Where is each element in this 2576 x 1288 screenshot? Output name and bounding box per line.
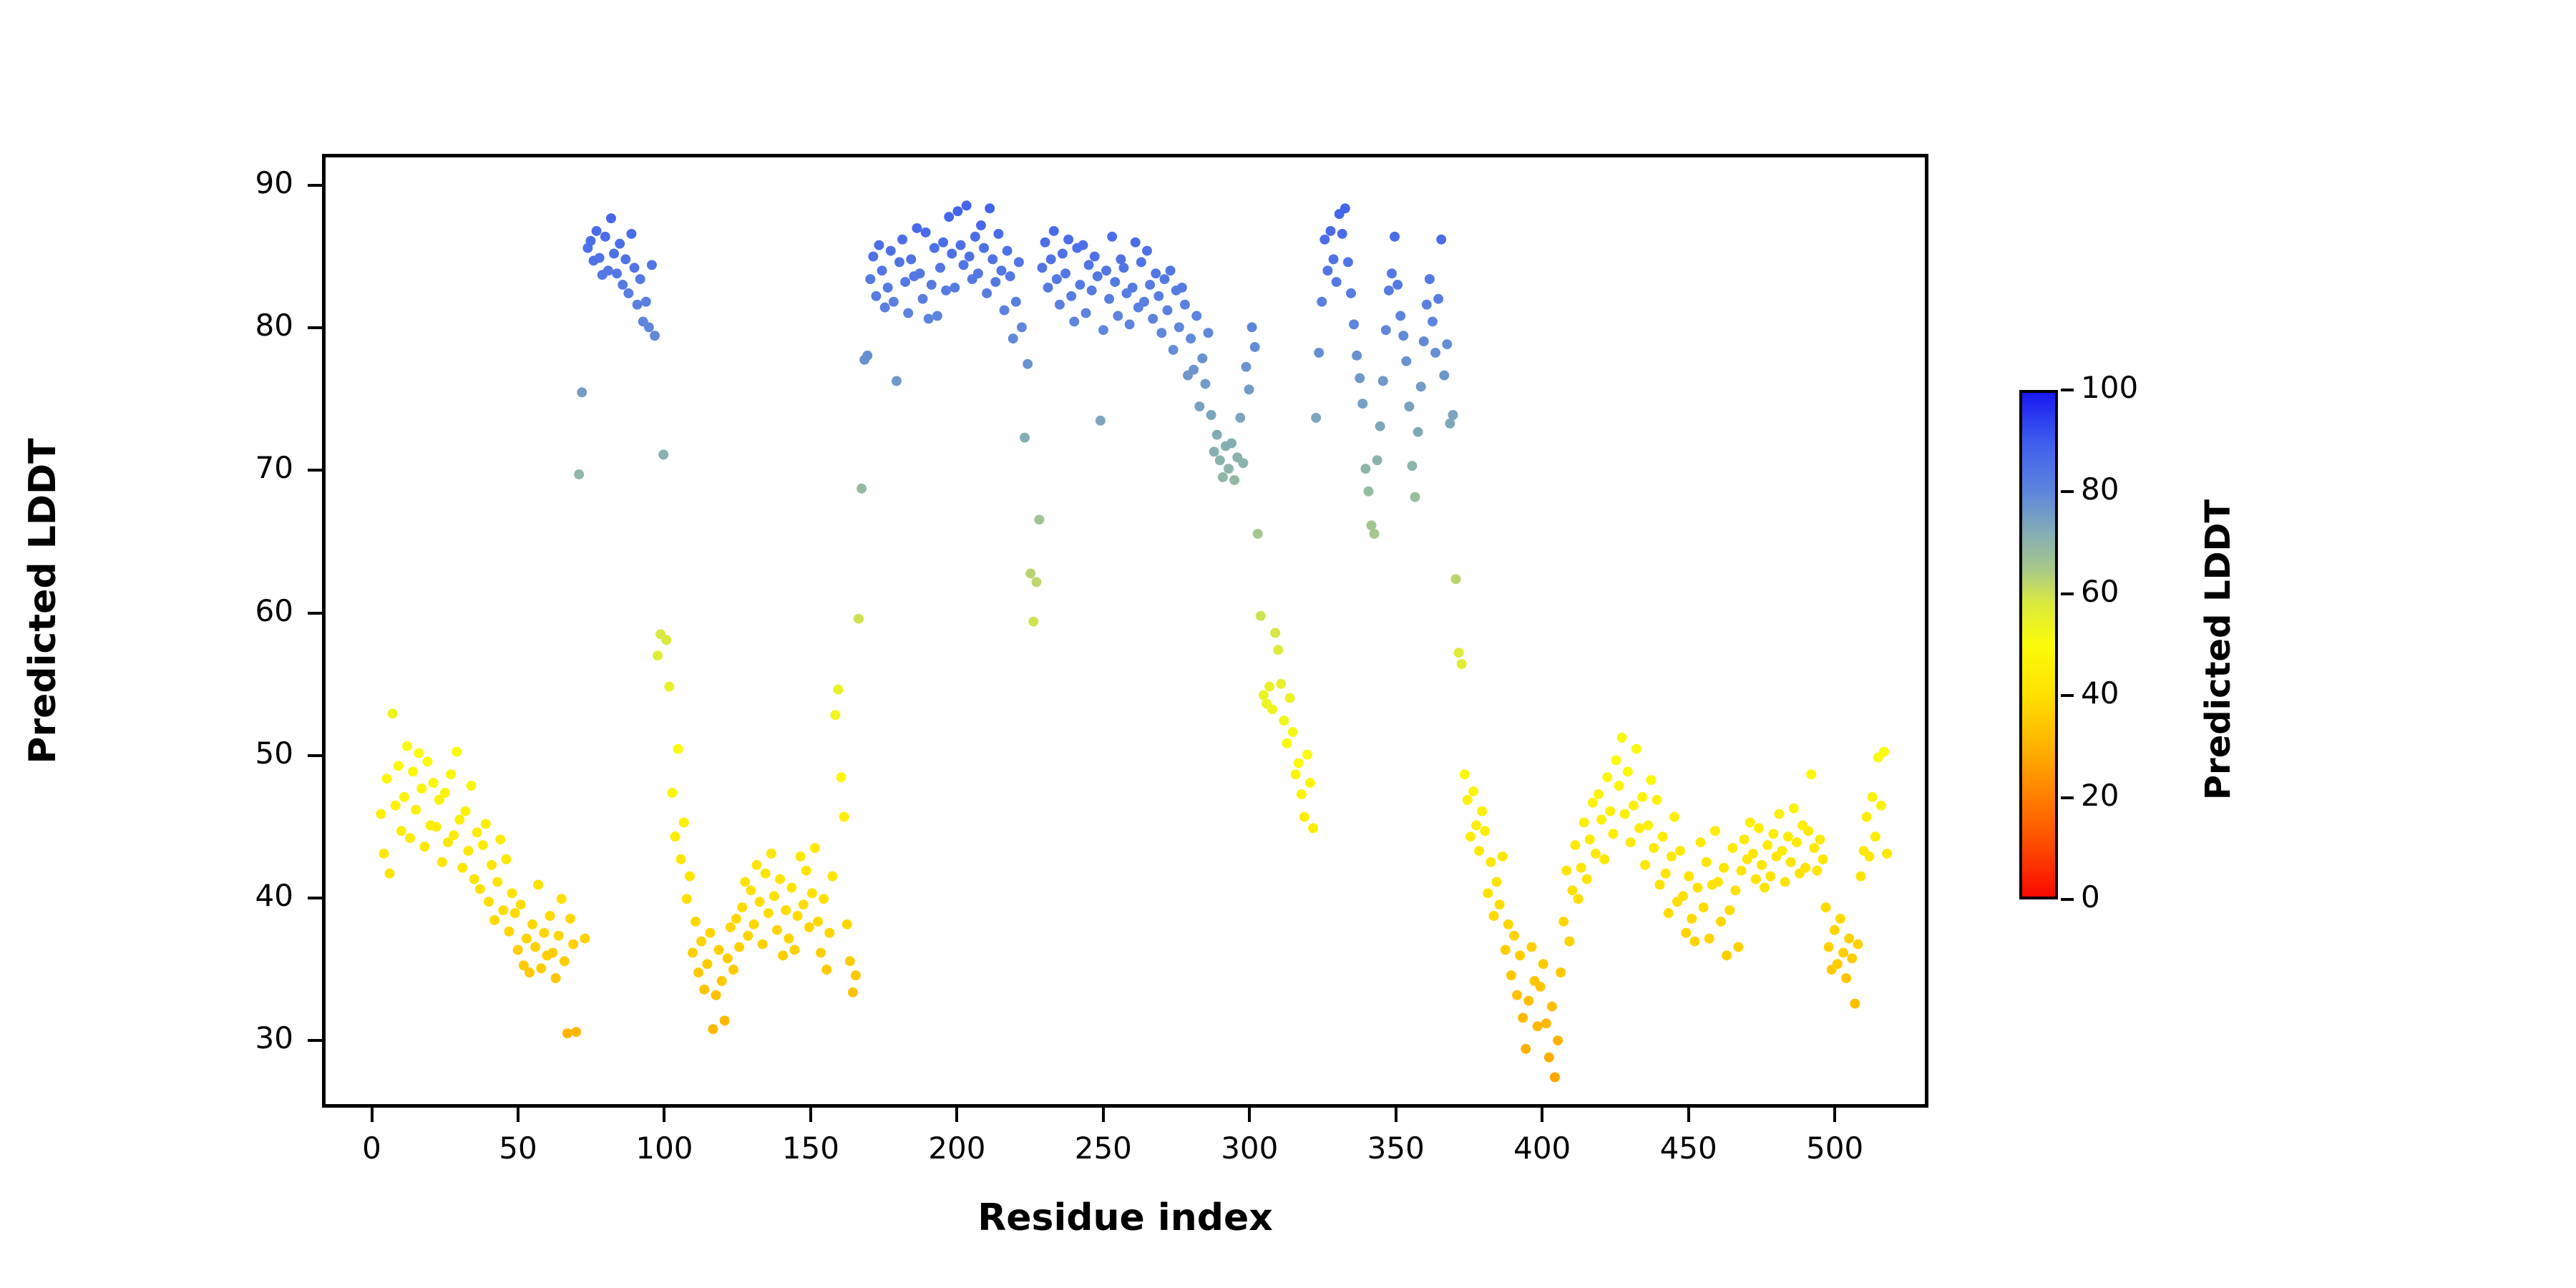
scatter-point [761, 869, 771, 879]
y-axis-tick [308, 469, 322, 472]
scatter-point [1643, 820, 1653, 830]
scatter-point [868, 251, 878, 261]
scatter-point [1194, 401, 1204, 411]
scatter-point [1571, 840, 1581, 850]
scatter-point [851, 970, 861, 980]
scatter-point [1046, 254, 1056, 264]
x-axis-tick [663, 1108, 665, 1122]
scatter-point [711, 990, 721, 1000]
scatter-point [516, 899, 526, 909]
scatter-point [1704, 934, 1714, 944]
scatter-point [1087, 286, 1097, 296]
scatter-point [906, 254, 916, 264]
scatter-point [1235, 413, 1245, 423]
scatter-point [399, 792, 409, 802]
scatter-point [551, 973, 561, 983]
scatter-point [1370, 529, 1380, 539]
scatter-point [1241, 362, 1251, 372]
scatter-point [997, 265, 1007, 275]
scatter-point [1730, 885, 1740, 895]
scatter-point [1191, 311, 1201, 321]
scatter-point [924, 313, 934, 323]
scatter-point [1038, 263, 1048, 273]
scatter-point [1329, 254, 1339, 264]
scatter-point [1294, 758, 1304, 768]
scatter-point [595, 253, 605, 263]
scatter-point [1850, 999, 1860, 1009]
scatter-point [1588, 798, 1598, 808]
scatter-point [1576, 863, 1586, 873]
scatter-point [1789, 804, 1799, 814]
scatter-point [1853, 940, 1863, 950]
x-axis-tick-label: 200 [885, 1131, 1028, 1166]
scatter-point [1579, 818, 1589, 828]
scatter-point [836, 772, 847, 782]
scatter-point [717, 976, 727, 986]
scatter-point [889, 297, 899, 307]
scatter-point [1868, 792, 1878, 802]
scatter-point [1319, 235, 1330, 245]
y-axis-tick [308, 1039, 322, 1042]
scatter-point [1297, 789, 1307, 799]
colorbar-gradient [2019, 390, 2058, 899]
scatter-point [1495, 899, 1505, 909]
scatter-point [965, 251, 975, 261]
scatter-point [402, 741, 412, 751]
scatter-point [623, 288, 633, 298]
scatter-point [1413, 427, 1423, 437]
y-axis-tick-label: 30 [150, 1020, 293, 1055]
scatter-point [796, 852, 806, 862]
scatter-point [1477, 806, 1487, 816]
scatter-point [513, 945, 523, 955]
scatter-point [1043, 283, 1053, 293]
scatter-point [396, 826, 406, 836]
scatter-point [959, 260, 969, 270]
scatter-point [944, 212, 954, 222]
scatter-point [839, 812, 849, 822]
scatter-point [1340, 203, 1350, 213]
scatter-point [1526, 942, 1536, 952]
scatter-point [630, 263, 640, 273]
scatter-point [772, 925, 782, 935]
scatter-point [799, 899, 809, 909]
scatter-point [429, 778, 439, 788]
scatter-point [533, 880, 543, 890]
scatter-point [1197, 353, 1207, 364]
scatter-point [871, 291, 881, 301]
scatter-point [452, 747, 462, 757]
scatter-point [1049, 226, 1059, 236]
scatter-point [580, 934, 590, 944]
scatter-point [1841, 973, 1851, 983]
scatter-point [1596, 815, 1606, 825]
scatter-point [1346, 288, 1356, 298]
scatter-point [472, 827, 482, 837]
scatter-point [1533, 1021, 1543, 1031]
scatter-point [956, 240, 966, 250]
scatter-point [781, 905, 791, 915]
scatter-point [1084, 260, 1094, 270]
scatter-point [1384, 286, 1394, 296]
scatter-point [1177, 283, 1187, 293]
scatter-point [962, 200, 972, 210]
scatter-point [734, 942, 744, 952]
scatter-point [821, 965, 831, 975]
scatter-point [1011, 297, 1021, 307]
scatter-point [1131, 238, 1141, 248]
scatter-point [993, 229, 1003, 239]
scatter-point [1299, 812, 1309, 822]
scatter-point [1308, 823, 1318, 833]
scatter-point [1288, 727, 1298, 737]
scatter-point [892, 376, 902, 386]
scatter-point [1465, 831, 1475, 841]
scatter-point [880, 303, 890, 313]
x-axis-tick-label: 0 [301, 1131, 444, 1166]
x-axis-tick [1102, 1108, 1105, 1122]
scatter-point [1128, 283, 1138, 293]
scatter-point [1433, 294, 1443, 304]
scatter-point [437, 857, 447, 867]
scatter-point [755, 897, 765, 907]
scatter-point [775, 874, 785, 884]
scatter-point [1136, 257, 1146, 267]
x-axis-tick-label: 150 [739, 1131, 882, 1166]
scatter-point [1352, 351, 1362, 361]
scatter-point [1314, 348, 1324, 358]
scatter-point [1699, 902, 1709, 912]
scatter-point [1145, 280, 1155, 290]
x-axis-tick-label: 300 [1178, 1131, 1321, 1166]
scatter-point [1556, 967, 1566, 977]
scatter-point [987, 254, 997, 264]
scatter-point [501, 854, 511, 864]
scatter-point [554, 931, 564, 941]
scatter-point [1634, 823, 1644, 833]
scatter-point [495, 834, 505, 844]
scatter-point [1148, 313, 1158, 323]
scatter-point [1430, 348, 1440, 358]
scatter-point [938, 238, 948, 248]
scatter-point [1285, 693, 1295, 703]
scatter-point [1649, 843, 1659, 853]
scatter-point [1838, 947, 1848, 957]
x-axis-tick-label: 250 [1032, 1131, 1175, 1166]
scatter-point [714, 945, 724, 955]
scatter-point [1591, 849, 1601, 859]
colorbar-tick [2061, 694, 2074, 697]
scatter-point [419, 841, 429, 852]
scatter-point [1509, 931, 1519, 941]
y-axis-tick-label: 70 [150, 450, 293, 485]
scatter-point [903, 308, 913, 318]
colorbar-tick-label: 0 [2081, 879, 2100, 914]
scatter-point [568, 940, 578, 950]
scatter-point [1485, 857, 1496, 867]
colorbar-tick-label: 20 [2081, 778, 2119, 813]
scatter-point [1806, 769, 1816, 779]
scatter-point [1602, 772, 1612, 782]
scatter-point [539, 928, 549, 938]
scatter-point [411, 805, 421, 815]
scatter-point [1363, 487, 1373, 497]
scatter-point [1250, 342, 1260, 352]
scatter-point [1637, 792, 1647, 802]
scatter-point [1428, 316, 1438, 326]
scatter-point [620, 254, 630, 264]
scatter-point [1355, 374, 1365, 384]
scatter-point [664, 682, 674, 692]
scatter-point [1740, 834, 1750, 844]
scatter-point [1020, 433, 1030, 443]
scatter-point [1830, 925, 1840, 935]
scatter-point [1809, 843, 1819, 853]
scatter-point [1667, 852, 1677, 862]
scatter-point [1626, 837, 1636, 847]
scatter-point [1640, 860, 1650, 870]
scatter-point [385, 869, 395, 879]
scatter-point [679, 818, 689, 828]
y-axis-tick [308, 612, 322, 615]
scatter-point [612, 268, 622, 278]
scatter-point [723, 953, 733, 963]
scatter-point [571, 1027, 581, 1037]
scatter-point [1815, 834, 1825, 844]
x-axis-tick-label: 450 [1617, 1131, 1760, 1166]
scatter-point [557, 894, 567, 904]
scatter-point [1206, 410, 1216, 420]
scatter-point [1760, 882, 1770, 892]
scatter-point [1774, 809, 1784, 819]
scatter-point [1110, 277, 1120, 287]
scatter-point [1547, 1002, 1557, 1012]
scatter-point [585, 236, 595, 246]
scatter-point [673, 744, 683, 754]
scatter-point [431, 821, 441, 831]
scatter-point [990, 277, 1000, 287]
scatter-point [1669, 812, 1679, 822]
scatter-point [1722, 950, 1732, 960]
scatter-point [1332, 277, 1342, 287]
scatter-point [644, 322, 654, 332]
scatter-point [1113, 311, 1123, 321]
scatter-point [950, 283, 960, 293]
scatter-point [862, 351, 872, 361]
scatter-point [1436, 235, 1446, 245]
scatter-point [973, 268, 983, 278]
scatter-point [848, 987, 858, 997]
scatter-point [522, 934, 532, 944]
scatter-point [900, 277, 910, 287]
scatter-point [921, 228, 931, 238]
x-axis-tick-label: 350 [1324, 1131, 1468, 1166]
scatter-point [1017, 322, 1027, 332]
scatter-point [1558, 917, 1568, 927]
scatter-point [1631, 744, 1641, 754]
x-axis-tick [1541, 1108, 1543, 1122]
scatter-point [1060, 268, 1070, 278]
scatter-point [603, 265, 613, 275]
x-axis-tick [809, 1108, 812, 1122]
scatter-point [702, 959, 712, 969]
scatter-point [1326, 226, 1336, 236]
scatter-point [1215, 455, 1225, 465]
scatter-point [976, 220, 986, 230]
scatter-point [498, 905, 508, 915]
scatter-point [1719, 863, 1729, 873]
scatter-point [1276, 679, 1286, 689]
scatter-point [626, 229, 636, 239]
scatter-point [915, 268, 925, 278]
scatter-point [1835, 914, 1845, 924]
scatter-point [1460, 769, 1470, 779]
scatter-point [469, 874, 479, 884]
scatter-point [1093, 271, 1103, 281]
scatter-point [874, 240, 884, 250]
scatter-point [1727, 843, 1737, 853]
scatter-point [574, 469, 584, 479]
scatter-point [1104, 294, 1114, 304]
scatter-point [460, 806, 470, 816]
scatter-point [1463, 795, 1473, 805]
scatter-point [894, 257, 904, 267]
scatter-point [1372, 455, 1382, 465]
colorbar-tick [2061, 389, 2074, 391]
scatter-point [970, 232, 980, 242]
scatter-point [1862, 812, 1872, 822]
x-axis-title: Residue index [322, 1196, 1928, 1239]
scatter-point [1821, 902, 1831, 912]
scatter-point [740, 877, 750, 887]
scatter-point [635, 274, 645, 284]
scatter-point [1078, 240, 1088, 250]
scatter-point [1687, 914, 1697, 924]
scatter-point [1567, 885, 1577, 895]
scatter-point [1005, 271, 1015, 281]
scatter-point [1780, 877, 1790, 887]
scatter-point [1553, 1035, 1563, 1045]
scatter-point [475, 884, 485, 894]
scatter-point [1156, 328, 1166, 338]
scatter-point [763, 908, 774, 918]
scatter-point [1751, 874, 1761, 884]
scatter-point [1166, 265, 1176, 275]
scatter-point [1142, 246, 1152, 256]
scatter-point [935, 263, 945, 273]
scatter-point [1768, 829, 1778, 839]
scatter-point [1090, 251, 1100, 261]
scatter-point [1870, 831, 1880, 841]
scatter-point [778, 950, 788, 960]
scatter-point [1605, 806, 1615, 816]
scatter-point [1724, 905, 1735, 915]
scatter-point [1523, 996, 1533, 1006]
scatter-point [1305, 778, 1315, 788]
x-axis-tick [1687, 1108, 1690, 1122]
scatter-point [845, 956, 855, 966]
scatter-points-layer [326, 157, 1925, 1104]
scatter-point [1028, 617, 1038, 627]
scatter-point [1174, 322, 1184, 332]
scatter-point [1474, 846, 1484, 856]
scatter-point [1661, 869, 1671, 879]
scatter-point [1614, 781, 1624, 791]
colorbar-tick [2061, 796, 2074, 799]
scatter-point [653, 650, 663, 660]
scatter-point [1439, 371, 1449, 381]
scatter-point [1678, 891, 1688, 901]
scatter-point [748, 919, 758, 930]
scatter-point [592, 226, 602, 236]
scatter-point [376, 809, 386, 819]
scatter-point [685, 872, 695, 882]
scatter-point [1521, 1044, 1531, 1054]
scatter-point [1282, 738, 1292, 748]
scatter-point [464, 846, 474, 856]
scatter-point [854, 614, 864, 624]
scatter-point [1876, 801, 1886, 811]
scatter-point [609, 249, 619, 259]
scatter-point [414, 748, 424, 758]
scatter-point [1515, 950, 1525, 960]
scatter-point [1063, 235, 1073, 245]
scatter-point [1259, 691, 1269, 701]
scatter-point [952, 206, 962, 216]
scatter-point [816, 947, 826, 957]
scatter-point [1538, 959, 1548, 969]
scatter-point [1322, 265, 1332, 275]
scatter-point [1762, 840, 1772, 850]
scatter-point [676, 854, 686, 864]
scatter-point [1387, 268, 1397, 278]
scatter-point [1608, 829, 1618, 839]
scatter-point [1833, 959, 1843, 969]
scatter-point [1098, 325, 1108, 335]
scatter-point [758, 940, 768, 950]
colorbar-tick [2061, 898, 2074, 901]
scatter-point [1212, 430, 1222, 440]
scatter-point [1684, 872, 1694, 882]
scatter-point [1000, 306, 1010, 316]
y-axis-title: Predicted LDDT [21, 279, 64, 923]
scatter-point [667, 788, 677, 798]
scatter-point [1847, 953, 1857, 963]
scatter-point [813, 917, 823, 927]
scatter-point [1401, 356, 1411, 366]
scatter-point [918, 294, 928, 304]
scatter-point [1209, 447, 1219, 457]
scatter-point [830, 710, 840, 720]
scatter-point [1737, 866, 1747, 876]
scatter-point [449, 830, 459, 840]
scatter-point [615, 239, 625, 249]
scatter-point [1101, 265, 1111, 275]
scatter-point [1381, 325, 1391, 335]
scatter-point [525, 967, 535, 977]
scatter-point [1125, 319, 1135, 329]
scatter-point [1008, 333, 1018, 343]
scatter-point [1689, 937, 1699, 947]
scatter-point [930, 243, 940, 253]
scatter-point [784, 934, 794, 944]
scatter-point [1279, 716, 1289, 726]
scatter-point [670, 831, 680, 841]
scatter-point [1398, 331, 1408, 341]
scatter-point [708, 1024, 718, 1034]
scatter-point [793, 911, 803, 921]
y-axis-tick [308, 897, 322, 899]
